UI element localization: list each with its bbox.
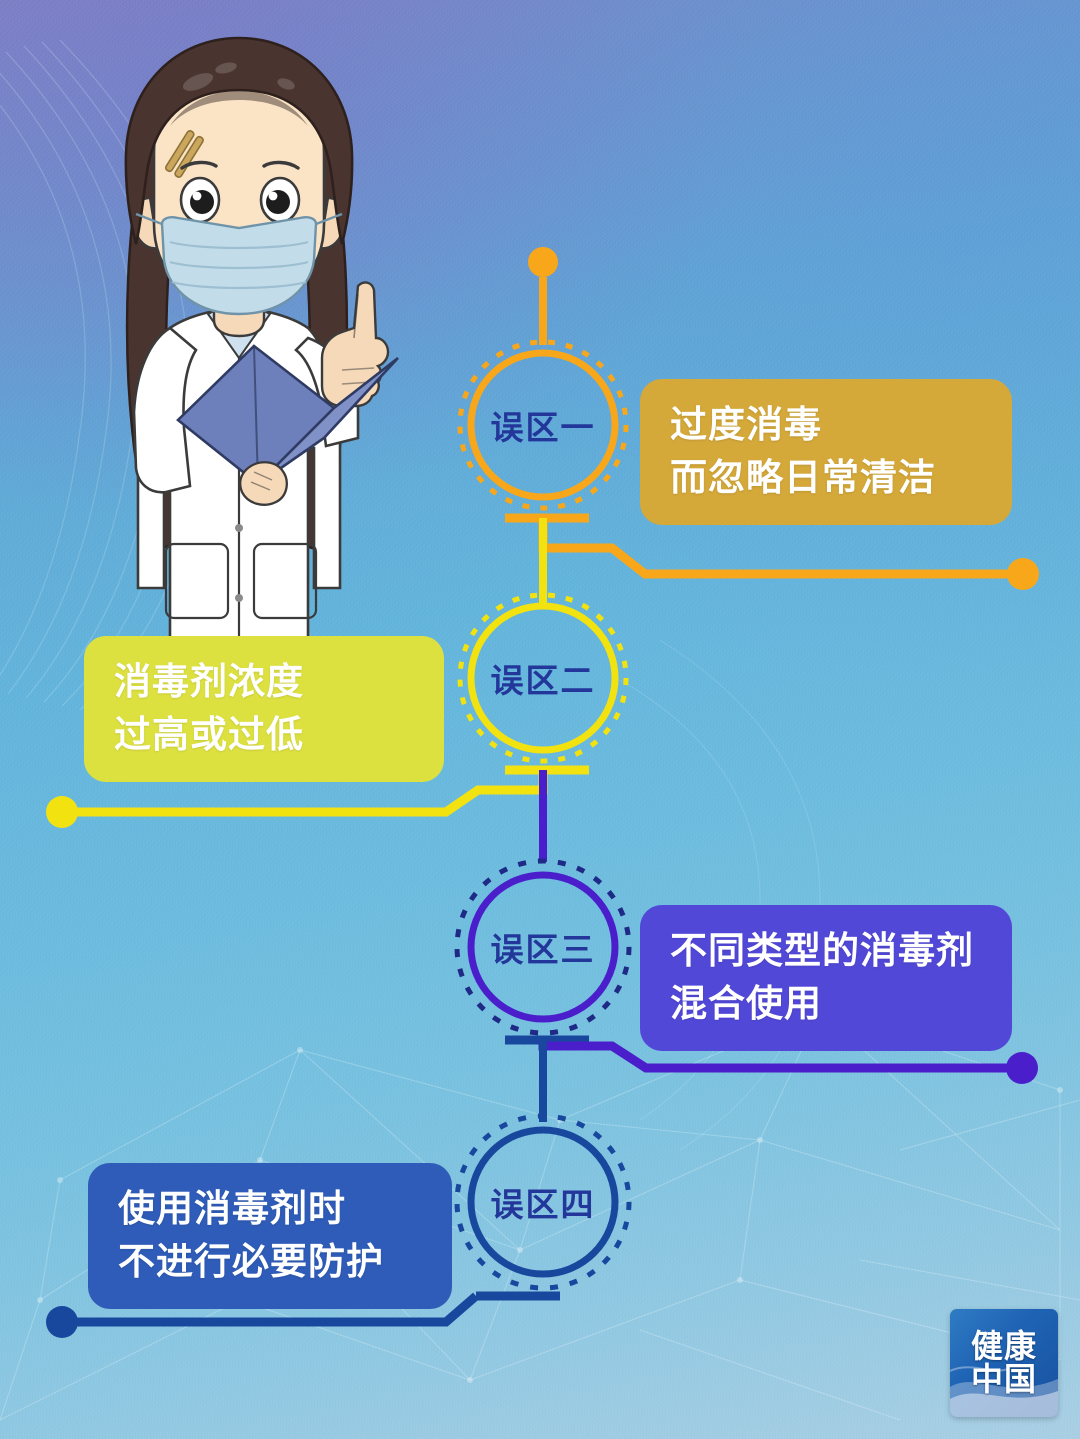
logo-line-1: 健康 xyxy=(971,1330,1037,1363)
step-1-lead-line xyxy=(543,518,1015,574)
step-2-callout: 消毒剂浓度 过高或过低 xyxy=(84,636,444,782)
step-2-badge: 误区二 xyxy=(463,653,623,703)
step-4-badge: 误区四 xyxy=(463,1177,623,1227)
healthy-china-logo: 健康 中国 xyxy=(950,1309,1058,1417)
logo-line-2: 中国 xyxy=(971,1363,1037,1396)
step-1-callout-line-1: 过度消毒 xyxy=(670,399,982,452)
step-4-callout: 使用消毒剂时 不进行必要防护 xyxy=(88,1163,452,1309)
step-3-callout: 不同类型的消毒剂 混合使用 xyxy=(640,905,1012,1051)
step-2-callout-line-2: 过高或过低 xyxy=(114,709,414,762)
step-1-badge: 误区一 xyxy=(463,400,623,450)
top-start-dot xyxy=(528,247,558,277)
step-2-end-dot xyxy=(46,796,78,828)
step-4-callout-line-1: 使用消毒剂时 xyxy=(118,1183,422,1236)
step-4-end-dot xyxy=(46,1306,78,1338)
step-1-callout-line-2: 而忽略日常清洁 xyxy=(670,452,982,505)
step-3-badge: 误区三 xyxy=(463,922,623,972)
step-3-callout-line-2: 混合使用 xyxy=(670,978,982,1031)
step-3-callout-line-1: 不同类型的消毒剂 xyxy=(670,925,982,978)
infographic-poster: 误区一 误区二 误区三 误区四 过度消毒 而忽略日常清洁 消毒剂浓度 过高或过低… xyxy=(0,0,1080,1439)
step-2-callout-line-1: 消毒剂浓度 xyxy=(114,656,414,709)
step-1-callout: 过度消毒 而忽略日常清洁 xyxy=(640,379,1012,525)
step-3-end-dot xyxy=(1006,1052,1038,1084)
step-1-end-dot xyxy=(1007,558,1039,590)
step-4-callout-line-2: 不进行必要防护 xyxy=(118,1236,422,1289)
